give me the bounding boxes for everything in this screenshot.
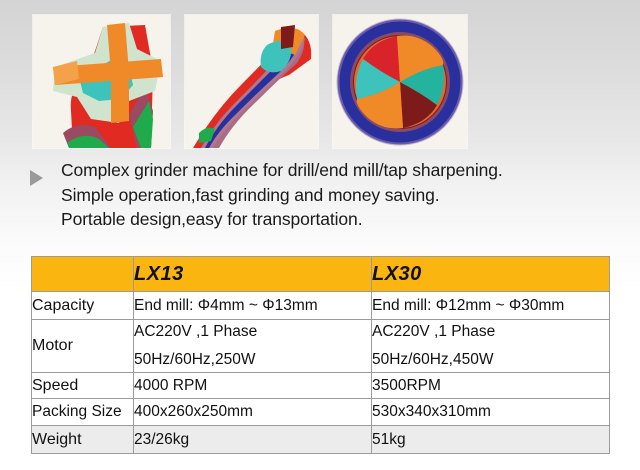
triangle-right-icon [30,170,43,186]
twist-drill-flute-photo [185,15,318,148]
feature-line: Complex grinder machine for drill/end mi… [61,158,618,183]
drill-end-view-photo [333,15,467,148]
cell-motor-lx13-line1: AC220V ,1 Phase [134,323,371,341]
specification-table: LX13 LX30 Capacity End mill: Φ4mm ~ Φ13m… [31,256,610,454]
row-label-capacity: Capacity [32,292,134,320]
row-label-packing-size: Packing Size [32,399,134,426]
cell-capacity-lx13: End mill: Φ4mm ~ Φ13mm [134,292,372,320]
feature-line: Simple operation,fast grinding and money… [61,183,618,208]
cell-motor-lx13-line2: 50Hz/60Hz,250W [134,351,371,369]
row-label-weight: Weight [32,426,134,454]
cell-weight-lx30: 51kg [372,426,610,454]
cell-motor-lx30: AC220V ,1 Phase 50Hz/60Hz,450W [372,320,610,373]
cell-motor-lx30-line1: AC220V ,1 Phase [372,323,609,341]
cell-packing-lx13: 400x260x250mm [134,399,372,426]
cell-capacity-lx30: End mill: Φ12mm ~ Φ30mm [372,292,610,320]
header-cell-blank [32,257,134,292]
drill-tip-cross-grind-photo [33,15,170,148]
cell-motor-lx30-line2: 50Hz/60Hz,450W [372,351,609,369]
table-row: Capacity End mill: Φ4mm ~ Φ13mm End mill… [32,292,610,320]
header-cell-lx30: LX30 [372,257,610,292]
product-photo-strip [0,15,640,148]
cell-packing-lx30: 530x340x310mm [372,399,610,426]
feature-list: Complex grinder machine for drill/end mi… [28,158,618,232]
feature-line: Portable design,easy for transportation. [61,207,618,232]
row-label-motor: Motor [32,320,134,373]
cell-weight-lx13: 23/26kg [134,426,372,454]
table-row: Speed 4000 RPM 3500RPM [32,373,610,399]
row-label-speed: Speed [32,373,134,399]
cell-motor-lx13: AC220V ,1 Phase 50Hz/60Hz,250W [134,320,372,373]
cell-speed-lx13: 4000 RPM [134,373,372,399]
header-cell-lx13: LX13 [134,257,372,292]
table-header-row: LX13 LX30 [32,257,610,292]
table-row: Motor AC220V ,1 Phase 50Hz/60Hz,250W AC2… [32,320,610,373]
cell-speed-lx30: 3500RPM [372,373,610,399]
table-row: Packing Size 400x260x250mm 530x340x310mm [32,399,610,426]
table-row: Weight 23/26kg 51kg [32,426,610,454]
